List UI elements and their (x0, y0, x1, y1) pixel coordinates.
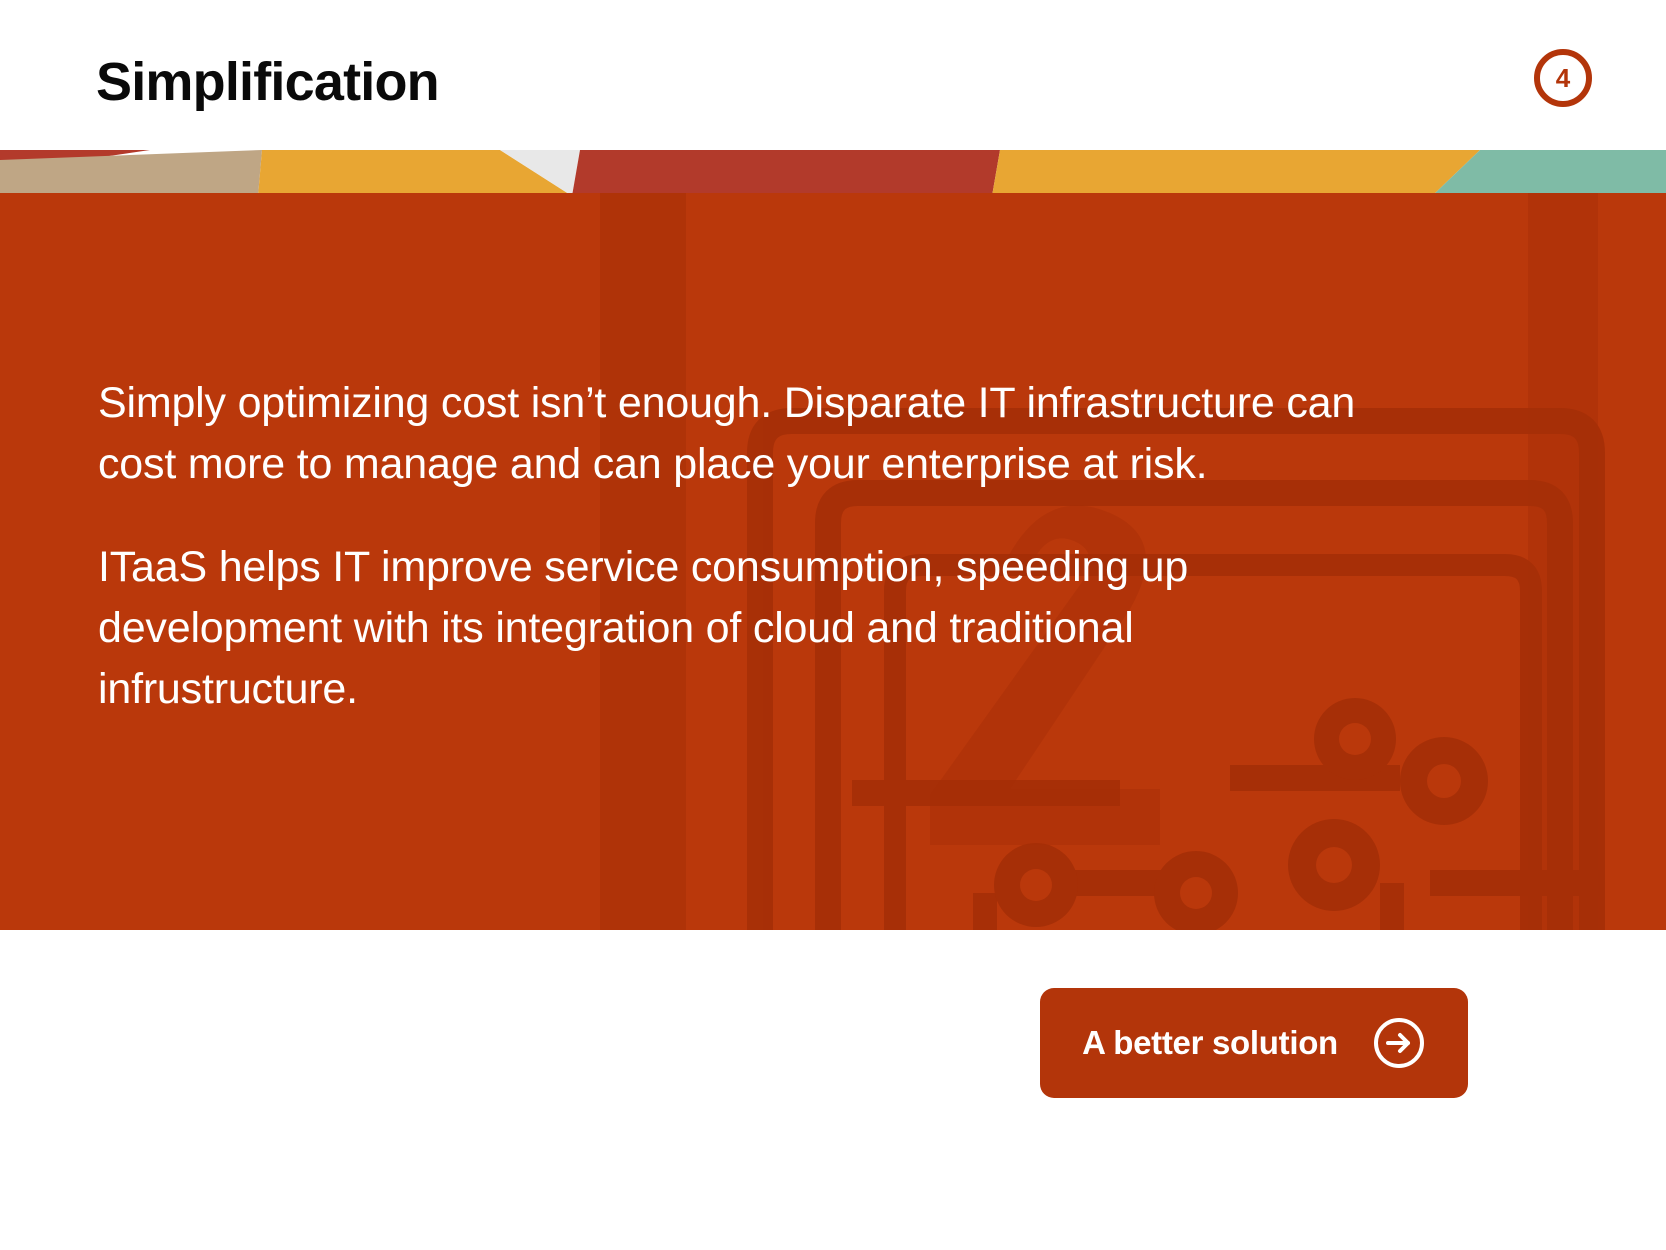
page-number-badge: 4 (1534, 49, 1592, 107)
decorative-stripe-bar (0, 150, 1666, 196)
arrow-right-circle-icon (1372, 1016, 1426, 1070)
slide: Simplification 4 (0, 0, 1666, 1250)
stripe-brick-red-band (572, 150, 1000, 196)
circuit-pad (1288, 819, 1380, 911)
content-panel: Simply optimizing cost isn’t enough. Dis… (0, 193, 1666, 930)
paragraph-1: Simply optimizing cost isn’t enough. Dis… (98, 373, 1388, 495)
body-copy: Simply optimizing cost isn’t enough. Dis… (98, 373, 1388, 720)
cta-label: A better solution (1082, 1024, 1338, 1062)
stripe-amber-band-2 (992, 150, 1480, 196)
circuit-pad (994, 843, 1078, 927)
paragraph-2: ITaaS helps IT improve service consumpti… (98, 537, 1388, 720)
slide-header: Simplification 4 (0, 0, 1666, 150)
circuit-pad (1400, 737, 1488, 825)
a-better-solution-button[interactable]: A better solution (1040, 988, 1468, 1098)
page-number-value: 4 (1556, 65, 1570, 91)
page-title: Simplification (96, 55, 439, 109)
